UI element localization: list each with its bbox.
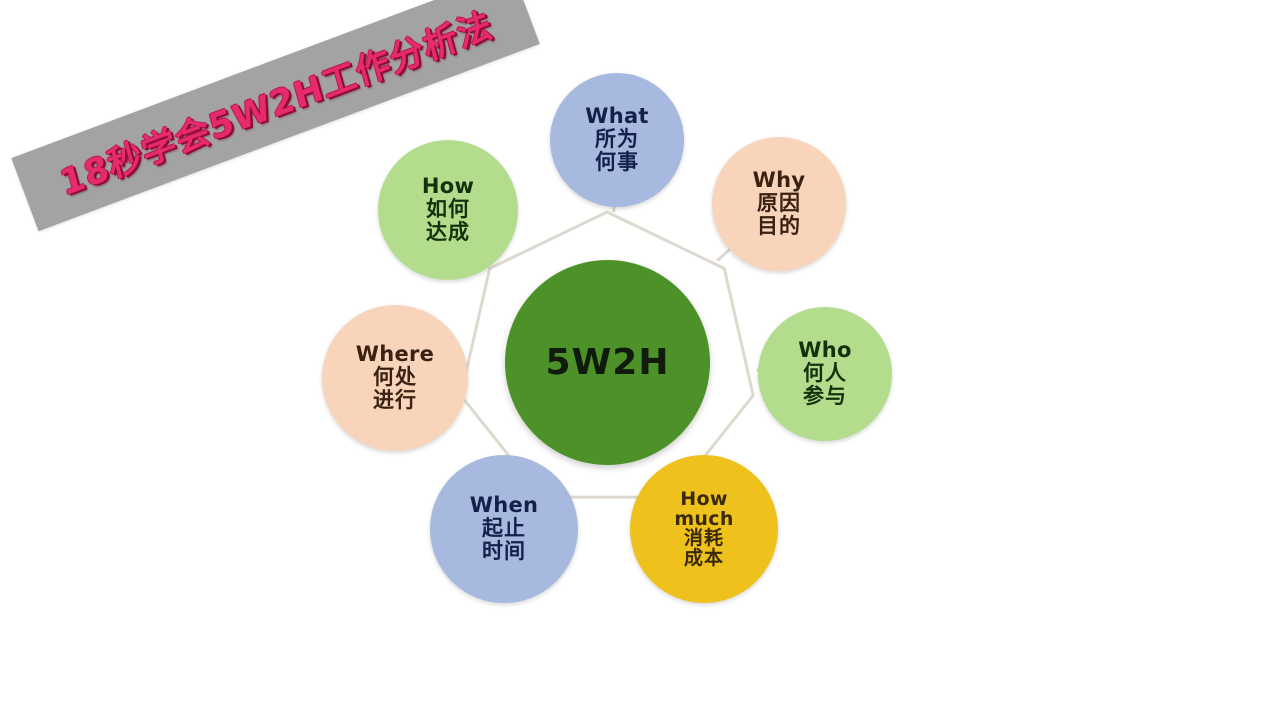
node-how_much-label-en: How xyxy=(680,490,727,510)
node-where[interactable]: Where何处进行 xyxy=(322,305,468,451)
slide-canvas: 18秒学会5W2H工作分析法 5W2H What所为何事Why原因目的Who何人… xyxy=(0,0,1275,720)
node-who-label-cn1: 何人 xyxy=(803,362,847,385)
node-why[interactable]: Why原因目的 xyxy=(712,137,846,271)
node-when-label-cn2: 时间 xyxy=(482,540,526,563)
node-where-label-cn2: 进行 xyxy=(373,389,417,412)
node-why-label-cn1: 原因 xyxy=(757,192,801,215)
node-who-label-cn2: 参与 xyxy=(803,385,847,408)
node-what-label-cn1: 所为 xyxy=(595,128,639,151)
center-node-5w2h[interactable]: 5W2H xyxy=(505,260,710,465)
center-node-label: 5W2H xyxy=(546,342,670,383)
node-when[interactable]: When起止时间 xyxy=(430,455,578,603)
node-where-label-cn1: 何处 xyxy=(373,366,417,389)
connector-spoke-why xyxy=(718,248,732,261)
node-how[interactable]: How如何达成 xyxy=(378,140,518,280)
node-where-label-en: Where xyxy=(356,344,434,366)
node-how-label-cn1: 如何 xyxy=(426,198,470,221)
node-what-label-en: What xyxy=(585,106,649,128)
node-what[interactable]: What所为何事 xyxy=(550,73,684,207)
node-when-label-en: When xyxy=(470,495,539,517)
node-how_much-label-cn1: 消耗 xyxy=(684,529,724,548)
swh-radial-diagram: 5W2H What所为何事Why原因目的Who何人参与Howmuch消耗成本Wh… xyxy=(300,55,940,665)
node-what-label-cn2: 何事 xyxy=(595,151,639,174)
node-who-label-en: Who xyxy=(798,340,851,362)
node-how-label-cn2: 达成 xyxy=(426,221,470,244)
node-how-label-en: How xyxy=(422,176,474,198)
node-when-label-cn1: 起止 xyxy=(482,517,526,540)
node-who[interactable]: Who何人参与 xyxy=(758,307,892,441)
node-how_much[interactable]: Howmuch消耗成本 xyxy=(630,455,778,603)
node-why-label-cn2: 目的 xyxy=(757,215,801,238)
node-why-label-en: Why xyxy=(753,170,806,192)
node-how_much-label-cn2: 成本 xyxy=(684,549,724,568)
